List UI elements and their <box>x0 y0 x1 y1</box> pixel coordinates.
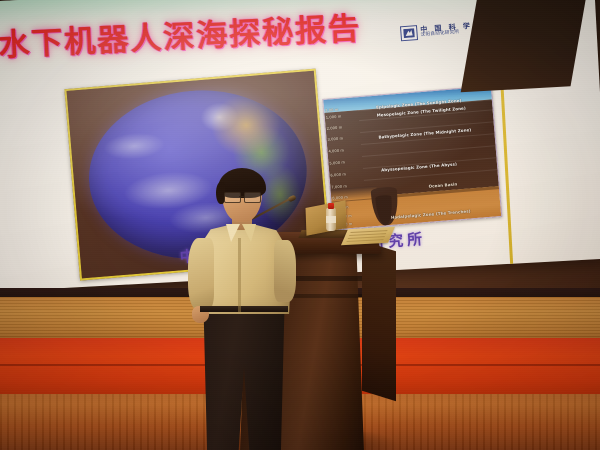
speaker-right-arm <box>274 240 296 302</box>
podium-side-panel <box>362 241 396 401</box>
depth-tick-label: 5,000 m <box>329 160 345 165</box>
cas-emblem-icon <box>400 25 418 41</box>
speaker-person <box>186 168 306 450</box>
speaker-shirt-placket <box>238 238 241 312</box>
water-bottle-cap <box>328 203 334 209</box>
depth-tick-label: 6,000 m <box>330 172 346 177</box>
speaker-eyeglasses <box>224 192 262 201</box>
water-bottle-label <box>326 216 336 223</box>
depth-tick-label: 7,000 m <box>331 184 347 189</box>
laptop[interactable] <box>300 204 350 236</box>
depth-tick-label: 2,000 m <box>326 125 342 130</box>
presentation-scene: 水下机器人深海探秘报告 中 国 科 学 院 沈阳自动化研究所 <box>0 0 600 450</box>
speaker-belt <box>200 306 288 312</box>
eyeglass-lens-right <box>244 192 261 203</box>
depth-tick-label: 1,000 m <box>326 115 342 120</box>
depth-tick-label: 8,000 m <box>332 195 348 200</box>
depth-tick-label: 3,000 m <box>327 136 343 141</box>
papers-on-podium[interactable] <box>341 227 395 245</box>
eyeglass-lens-left <box>224 192 241 203</box>
speaker-trousers <box>200 308 288 450</box>
speaker-left-arm <box>188 238 214 310</box>
depth-tick-label: 2,00 m <box>325 108 339 113</box>
depth-tick-label: 4,000 m <box>328 148 344 153</box>
water-bottle[interactable] <box>326 203 336 231</box>
